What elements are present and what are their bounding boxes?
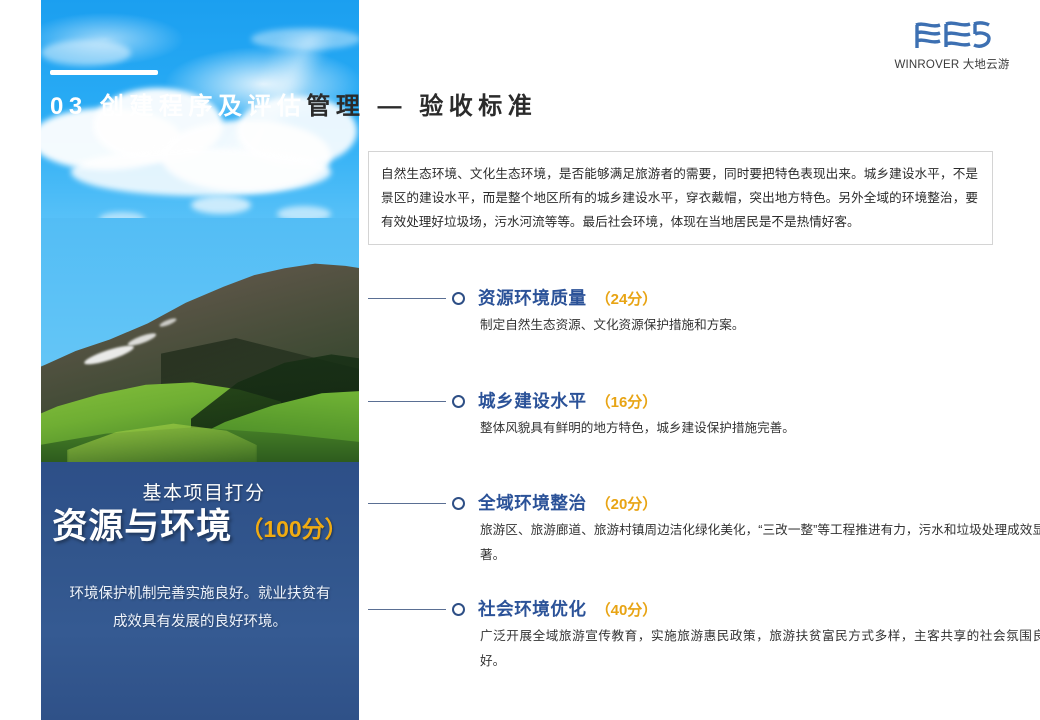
connector-line	[368, 298, 446, 299]
bullet-marker-icon	[452, 603, 465, 616]
criteria-description: 整体风貌具有鲜明的地方特色，城乡建设保护措施完善。	[480, 416, 1000, 441]
criteria-description: 旅游区、旅游廊道、旅游村镇周边洁化绿化美化，“三改一整”等工程推进有力，污水和垃…	[480, 518, 1040, 568]
bullet-marker-icon	[452, 497, 465, 510]
criteria-title: 城乡建设水平	[478, 388, 587, 413]
page-title-highlight: 03 创建程序及评估	[50, 93, 306, 120]
criteria-heading: 社会环境优化 （40分）	[478, 596, 657, 621]
criteria-score: （24分）	[596, 288, 658, 309]
slide-canvas: 基本项目打分 资源与环境 （100分） 环境保护机制完善实施良好。就业扶贫有成效…	[0, 0, 1040, 720]
criteria-description: 制定自然生态资源、文化资源保护措施和方案。	[480, 313, 1000, 338]
criteria-title: 社会环境优化	[478, 596, 587, 621]
criteria-score: （20分）	[596, 493, 658, 514]
criteria-heading: 全域环境整治 （20分）	[478, 490, 657, 515]
criteria-heading: 资源环境质量 （24分）	[478, 285, 657, 310]
connector-line	[368, 503, 446, 504]
criteria-title: 资源环境质量	[478, 285, 587, 310]
criteria-description: 广泛开展全域旅游宣传教育，实施旅游惠民政策，旅游扶贫富民方式多样，主客共享的社会…	[480, 624, 1040, 674]
bullet-marker-icon	[452, 292, 465, 305]
page-title: 03 创建程序及评估管理 — 验收标准	[50, 86, 537, 120]
criteria-score: （40分）	[596, 599, 658, 620]
bullet-marker-icon	[452, 395, 465, 408]
criteria-heading: 城乡建设水平 （16分）	[478, 388, 657, 413]
connector-line	[368, 609, 446, 610]
criteria-score: （16分）	[596, 391, 658, 412]
connector-line	[368, 401, 446, 402]
page-title-rest: 管理 — 验收标准	[306, 93, 537, 120]
criteria-title: 全域环境整治	[478, 490, 587, 515]
title-underline-rule	[50, 70, 158, 75]
